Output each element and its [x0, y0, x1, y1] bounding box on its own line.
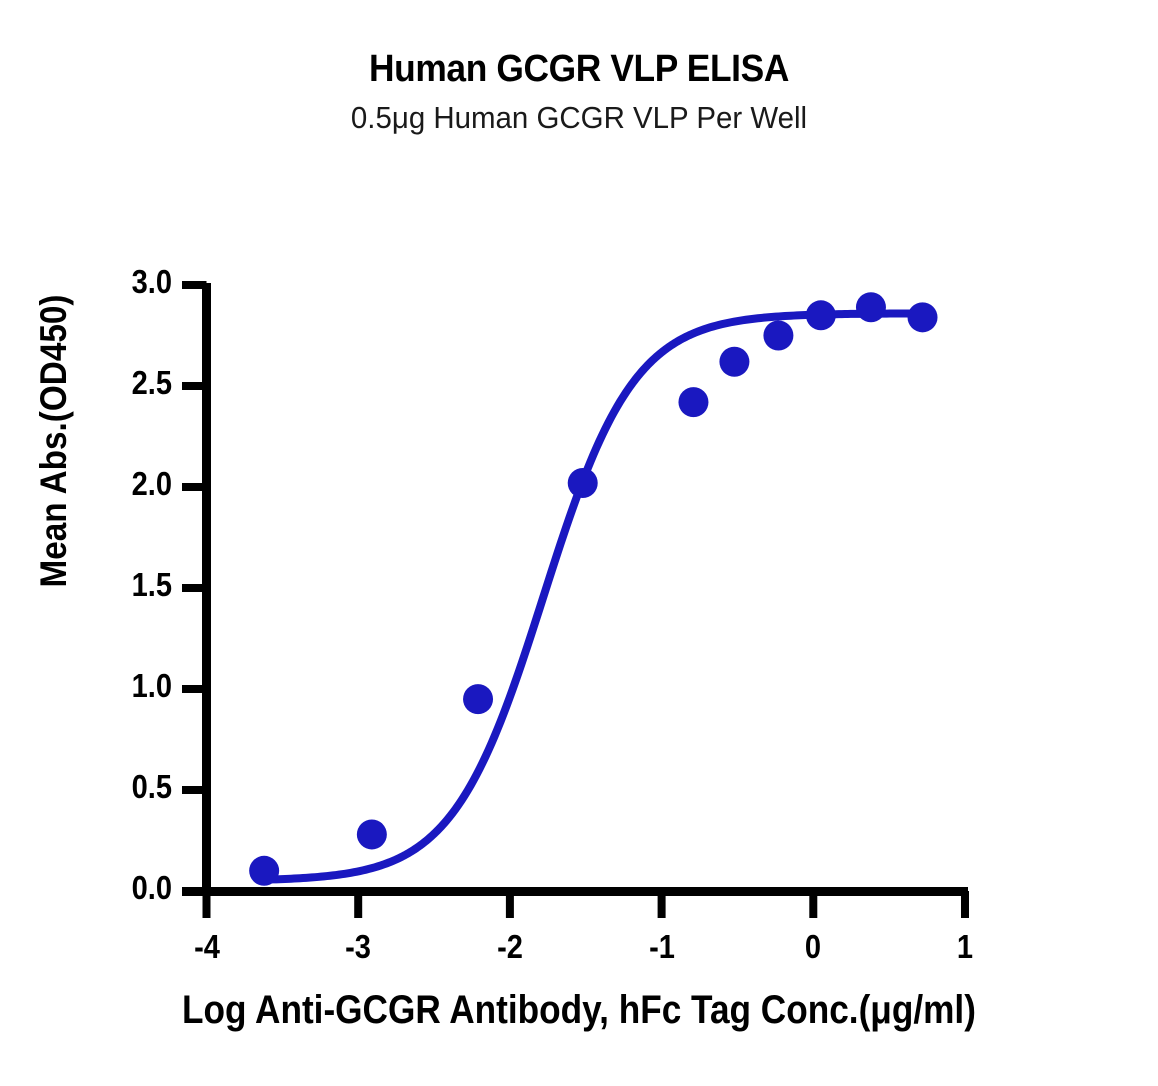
data-point: [568, 468, 598, 498]
data-point: [249, 856, 279, 886]
y-axis-tick-label: 0.0: [21, 869, 172, 907]
x-axis-tick-label: -2: [457, 928, 563, 966]
x-axis-tick-label: 1: [912, 928, 1018, 966]
data-point: [763, 321, 793, 351]
x-axis-title: Log Anti-GCGR Antibody, hFc Tag Conc.(μg…: [69, 988, 1088, 1033]
x-axis-tick-label: 0: [760, 928, 866, 966]
x-axis-tick-label: -3: [305, 928, 411, 966]
axis-lines: [182, 283, 968, 892]
y-axis-tick-label: 1.0: [21, 667, 172, 705]
fitted-curve: [264, 313, 922, 879]
x-axis-tick-label: -4: [154, 928, 260, 966]
x-axis-tick-label: -1: [609, 928, 715, 966]
y-axis-title: Mean Abs.(OD450): [33, 225, 75, 657]
data-point: [856, 292, 886, 322]
data-point-group: [249, 292, 937, 886]
data-point: [719, 347, 749, 377]
data-point: [806, 300, 836, 330]
data-point: [908, 302, 938, 332]
chart-canvas: [0, 0, 1158, 1086]
y-axis-tick-label: 0.5: [21, 768, 172, 806]
data-point: [357, 819, 387, 849]
data-point: [678, 387, 708, 417]
chart-plot-area: 0.00.51.01.52.02.53.0 -4-3-2-101 Mean Ab…: [0, 0, 1158, 1086]
data-point: [463, 684, 493, 714]
